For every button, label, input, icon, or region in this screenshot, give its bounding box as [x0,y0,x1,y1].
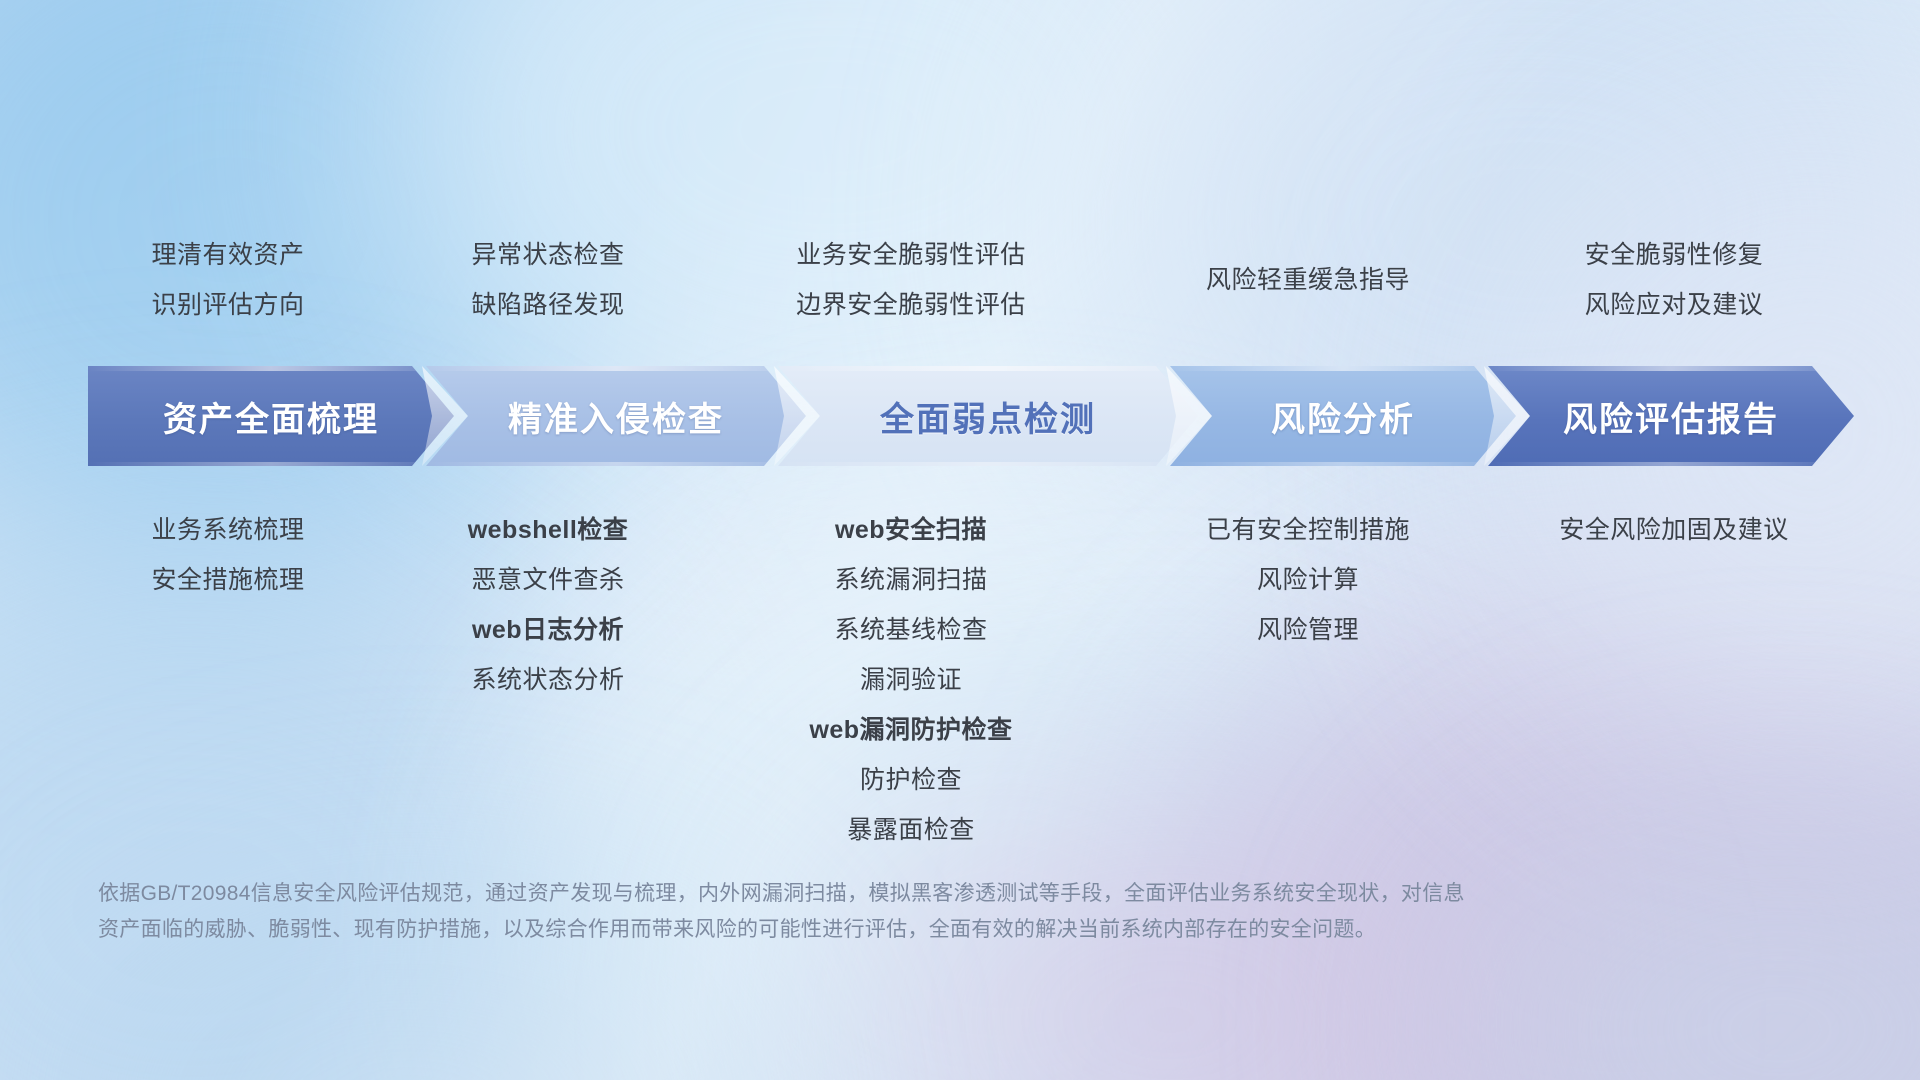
stage-bottom-labels-1: 业务系统梳理 安全措施梳理 [72,505,384,605]
stage-top-label: 业务安全脆弱性评估 [706,230,1116,280]
stage-bottom-label: web漏洞防护检查 [706,705,1116,755]
stage-top-label: 缺陷路径发现 [392,280,704,330]
stage-arrow-5[interactable]: 风险评估报告 [1488,366,1854,466]
stage-top-label: 边界安全脆弱性评估 [706,280,1116,330]
stage-bottom-labels-2: webshell检查 恶意文件查杀 web日志分析 系统状态分析 [392,505,704,705]
stage-bottom-label: 业务系统梳理 [72,505,384,555]
stage-top-labels-5: 安全脆弱性修复 风险应对及建议 [1500,230,1848,330]
stage-top-label: 异常状态检查 [392,230,704,280]
stage-arrow-3[interactable]: 全面弱点检测 [778,366,1198,466]
stage-arrow-4[interactable]: 风险分析 [1170,366,1516,466]
footer-description: 依据GB/T20984信息安全风险评估规范，通过资产发现与梳理，内外网漏洞扫描，… [98,876,1618,948]
stage-bottom-label: webshell检查 [392,505,704,555]
arrow-gloss-top [778,366,1198,371]
stage-top-labels-1: 理清有效资产 识别评估方向 [72,230,384,330]
arrow-gloss-bottom [1170,462,1516,466]
stage-bottom-label: 已有安全控制措施 [1118,505,1498,555]
arrow-gloss-top [1170,366,1516,371]
stage-top-label: 风险应对及建议 [1500,280,1848,330]
stage-top-label: 风险轻重缓急指导 [1118,255,1498,305]
stage-arrow-label: 精准入侵检查 [508,392,724,441]
arrow-gloss-bottom [88,462,454,466]
stage-top-labels-3: 业务安全脆弱性评估 边界安全脆弱性评估 [706,230,1116,330]
footer-line-2: 资产面临的威胁、脆弱性、现有防护措施，以及综合作用而带来风险的可能性进行评估，全… [98,912,1618,948]
arrow-gloss-bottom [1488,462,1854,466]
stage-bottom-label: 暴露面检查 [706,805,1116,855]
stage-bottom-label: web安全扫描 [706,505,1116,555]
stage-bottom-labels-3: web安全扫描 系统漏洞扫描 系统基线检查 漏洞验证 web漏洞防护检查 防护检… [706,505,1116,855]
arrow-gloss-bottom [778,462,1198,466]
stage-bottom-label: 漏洞验证 [706,655,1116,705]
stage-bottom-labels-5: 安全风险加固及建议 [1488,505,1860,555]
stage-bottom-label: 安全风险加固及建议 [1488,505,1860,555]
stage-arrow-2[interactable]: 精准入侵检查 [426,366,806,466]
arrow-gloss-top [88,366,454,371]
stage-arrow-label: 资产全面梳理 [163,392,379,441]
stage-top-label: 安全脆弱性修复 [1500,230,1848,280]
stage-arrow-band: 资产全面梳理 精准入侵检查 全面弱点检测 风险分析 风险评估报告 [88,366,1854,466]
stage-bottom-label: 恶意文件查杀 [392,555,704,605]
stage-bottom-label: 风险计算 [1118,555,1498,605]
stage-arrow-label: 全面弱点检测 [880,392,1096,441]
stage-top-label: 识别评估方向 [72,280,384,330]
stage-bottom-label: web日志分析 [392,605,704,655]
stage-bottom-label: 系统基线检查 [706,605,1116,655]
stage-top-labels-4: 风险轻重缓急指导 [1118,255,1498,305]
stage-arrow-label: 风险分析 [1271,392,1415,441]
stage-top-labels-2: 异常状态检查 缺陷路径发现 [392,230,704,330]
stage-bottom-labels-4: 已有安全控制措施 风险计算 风险管理 [1118,505,1498,655]
process-flow-diagram: 理清有效资产 识别评估方向 异常状态检查 缺陷路径发现 业务安全脆弱性评估 边界… [0,0,1920,1080]
stage-top-label: 理清有效资产 [72,230,384,280]
arrow-gloss-top [1488,366,1854,371]
arrow-gloss-bottom [426,462,806,466]
stage-bottom-label: 系统漏洞扫描 [706,555,1116,605]
stage-arrow-label: 风险评估报告 [1563,392,1779,441]
stage-arrow-1[interactable]: 资产全面梳理 [88,366,454,466]
stage-bottom-label: 系统状态分析 [392,655,704,705]
footer-line-1: 依据GB/T20984信息安全风险评估规范，通过资产发现与梳理，内外网漏洞扫描，… [98,876,1618,912]
stage-bottom-label: 风险管理 [1118,605,1498,655]
arrow-gloss-top [426,366,806,371]
stage-bottom-label: 安全措施梳理 [72,555,384,605]
stage-bottom-label: 防护检查 [706,755,1116,805]
